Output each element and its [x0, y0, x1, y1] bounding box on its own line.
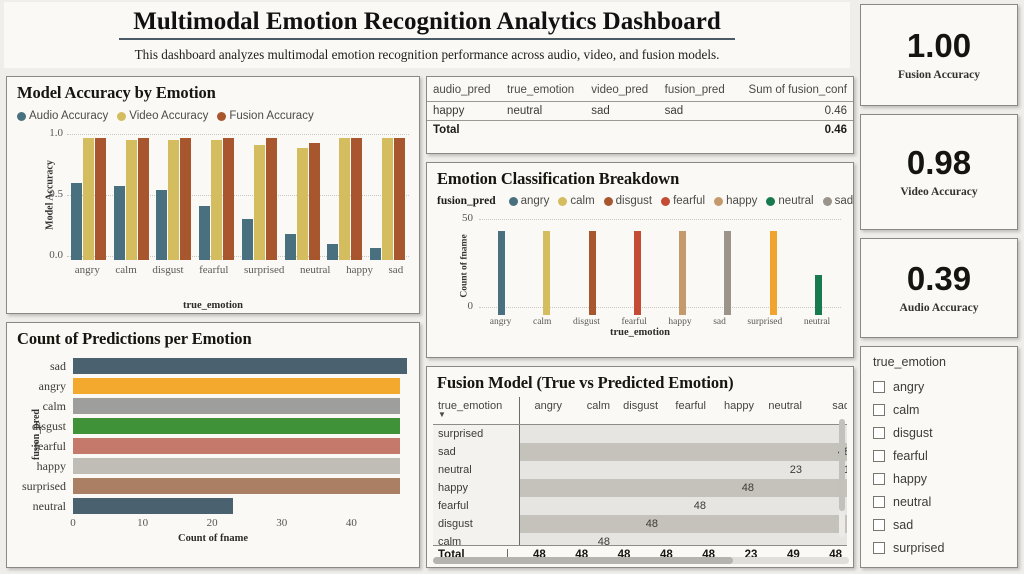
kpi-card-video-accuracy: 0.98 Video Accuracy: [860, 114, 1018, 230]
matrix-cell: [567, 497, 615, 515]
legend-label: sad: [835, 195, 854, 207]
table-row: neutral231: [433, 461, 847, 479]
filter-option-neutral[interactable]: neutral: [873, 490, 1017, 513]
legend-swatch-icon: [604, 197, 613, 206]
filter-options-list: angrycalmdisgustfearfulhappyneutralsadsu…: [873, 375, 1017, 559]
row-label: fearful: [433, 497, 519, 515]
bar-track: [73, 398, 407, 414]
model-accuracy-plot: Model Accuracy 0.00.51.0: [7, 130, 419, 260]
table-row: fearful48: [433, 497, 847, 515]
bar-row: sad: [7, 357, 419, 375]
table-cell: happy: [427, 102, 501, 121]
bar-neutral[interactable]: [815, 275, 822, 315]
x-tick-label: 0: [70, 517, 76, 529]
legend-label: happy: [726, 195, 757, 207]
x-tick-label: 30: [276, 517, 287, 529]
bar-surprised[interactable]: [770, 231, 777, 315]
row-label: happy: [433, 479, 519, 497]
legend-label: Audio Accuracy: [29, 110, 108, 122]
fusion-matrix-horizontal-scrollbar[interactable]: [433, 557, 849, 564]
matrix-cell: [663, 533, 711, 545]
bar-group: [370, 134, 405, 260]
bar-sad[interactable]: [73, 358, 407, 374]
checkbox-icon[interactable]: [873, 473, 885, 485]
x-tick-wrap: fearful: [199, 260, 228, 300]
table-row: happyneutralsadsad0.46: [427, 102, 853, 121]
page-subtitle: This dashboard analyzes multimodal emoti…: [135, 47, 720, 63]
prediction-counts-x-ticks: 010203040: [73, 517, 407, 533]
matrix-cell: [567, 461, 615, 479]
total-spacer: [585, 121, 658, 140]
x-tick-label: fearful: [199, 264, 228, 276]
matrix-cell: [615, 443, 663, 461]
filter-option-label: neutral: [893, 495, 931, 509]
bar-row: angry: [7, 377, 419, 395]
x-tick-label: 10: [137, 517, 148, 529]
kpi-value-audio: 0.39: [907, 262, 971, 295]
bar-audio-accuracy[interactable]: [199, 206, 210, 260]
bar-row-label: happy: [7, 459, 73, 474]
model-accuracy-title: Model Accuracy by Emotion: [7, 77, 419, 105]
bar-group: [156, 134, 191, 260]
row-label: surprised: [433, 425, 519, 444]
table-cell: sad: [585, 102, 658, 121]
bar-video-accuracy[interactable]: [211, 140, 222, 260]
bar-fusion-accuracy[interactable]: [138, 138, 149, 260]
bar-group: [71, 134, 106, 260]
model-accuracy-legend: Audio AccuracyVideo AccuracyFusion Accur…: [7, 105, 419, 122]
x-tick-label: surprised: [244, 264, 284, 276]
fusion-conf-summary-panel: audio_predtrue_emotionvideo_predfusion_p…: [426, 76, 854, 154]
column-header[interactable]: Sum of fusion_conf: [735, 77, 853, 102]
legend-label: Fusion Accuracy: [229, 110, 313, 122]
model-accuracy-panel: Model Accuracy by Emotion Audio Accuracy…: [6, 76, 420, 314]
matrix-cell: [663, 425, 711, 444]
matrix-cell: [519, 425, 567, 444]
bar-disgust[interactable]: [589, 231, 596, 315]
column-header[interactable]: fusion_pred: [659, 77, 736, 102]
legend-label: angry: [521, 195, 550, 207]
x-tick-wrap: surprised: [244, 260, 284, 300]
x-tick-label: calm: [115, 264, 136, 276]
filter-option-label: happy: [893, 472, 927, 486]
true-emotion-filter-panel: true_emotion angrycalmdisgustfearfulhapp…: [860, 346, 1018, 568]
emotion-breakdown-x-tick-labels: angrycalmdisgustfearfulhappysadsurprised…: [479, 317, 841, 327]
filter-option-label: disgust: [893, 426, 933, 440]
filter-option-calm[interactable]: calm: [873, 398, 1017, 421]
x-tick-label: 40: [346, 517, 357, 529]
bar-fusion-accuracy[interactable]: [223, 138, 234, 260]
table-total-row: Total0.46: [427, 121, 853, 140]
matrix-cell: [759, 515, 807, 533]
x-tick-wrap: sad: [389, 260, 404, 300]
matrix-cell: [663, 461, 711, 479]
x-tick-label: 20: [207, 517, 218, 529]
emotion-breakdown-plot: Count of fname 050: [427, 217, 853, 315]
bar-fusion-accuracy[interactable]: [351, 138, 362, 260]
matrix-cell: [711, 461, 759, 479]
x-tick-label: surprised: [747, 317, 782, 327]
x-tick-label: happy: [668, 317, 691, 327]
legend-swatch-icon: [823, 197, 832, 206]
matrix-cell: [759, 497, 807, 515]
total-spacer: [501, 121, 585, 140]
x-tick-wrap: angry: [75, 260, 100, 300]
prediction-counts-panel: Count of Predictions per Emotion fusion_…: [6, 322, 420, 568]
bar-row-label: angry: [7, 379, 73, 394]
total-spacer: [659, 121, 736, 140]
bar-video-accuracy[interactable]: [297, 148, 308, 260]
bar-angry[interactable]: [73, 378, 400, 394]
matrix-cell: [663, 479, 711, 497]
dashboard-root: Multimodal Emotion Recognition Analytics…: [0, 0, 1024, 574]
dashboard-header: Multimodal Emotion Recognition Analytics…: [4, 2, 850, 68]
bar-video-accuracy[interactable]: [168, 140, 179, 260]
y-tick-label: 0.5: [33, 188, 63, 200]
legend-item-angry: angry: [509, 195, 550, 207]
filter-option-label: fearful: [893, 449, 928, 463]
bar-video-accuracy[interactable]: [382, 138, 393, 260]
fusion-matrix-title: Fusion Model (True vs Predicted Emotion): [427, 367, 853, 395]
filter-option-label: surprised: [893, 541, 944, 555]
bar-fusion-accuracy[interactable]: [309, 143, 320, 260]
bar-row-label: surprised: [7, 479, 73, 494]
column-header[interactable]: video_pred: [585, 77, 658, 102]
checkbox-icon[interactable]: [873, 381, 885, 393]
legend-item-audio-accuracy: Audio Accuracy: [17, 110, 108, 122]
filter-option-surprised[interactable]: surprised: [873, 536, 1017, 559]
table-row: disgust48: [433, 515, 847, 533]
x-tick-label: neutral: [804, 317, 830, 327]
matrix-cell: [519, 461, 567, 479]
filter-option-disgust[interactable]: disgust: [873, 421, 1017, 444]
bar-track: [73, 478, 407, 494]
y-tick-label: 0: [443, 300, 473, 312]
fusion-matrix-scroll-area[interactable]: true_emotion▼angrycalmdisgustfearfulhapp…: [433, 397, 847, 545]
fusion-matrix-panel: Fusion Model (True vs Predicted Emotion)…: [426, 366, 854, 568]
bar-track: [73, 418, 407, 434]
column-header-angry[interactable]: angry: [519, 397, 567, 425]
bar-neutral[interactable]: [73, 498, 233, 514]
matrix-cell: [567, 443, 615, 461]
y-tick-label: 0.0: [33, 249, 63, 261]
matrix-cell: [519, 497, 567, 515]
x-tick-wrap: happy: [346, 260, 373, 300]
column-header-happy[interactable]: happy: [711, 397, 759, 425]
total-label: Total: [427, 121, 501, 140]
matrix-cell: [711, 425, 759, 444]
filter-title: true_emotion: [873, 355, 1017, 369]
table-row: happy48: [433, 479, 847, 497]
total-value: 0.46: [735, 121, 853, 140]
bar-row: calm: [7, 397, 419, 415]
x-tick-label: sad: [389, 264, 404, 276]
bar-row: surprised: [7, 477, 419, 495]
x-tick-wrap: disgust: [152, 260, 183, 300]
table-row: calm48: [433, 533, 847, 545]
column-header-fearful[interactable]: fearful: [663, 397, 711, 425]
column-header[interactable]: audio_pred: [427, 77, 501, 102]
table-row: surprised48: [433, 425, 847, 444]
matrix-cell: 48: [567, 533, 615, 545]
legend-swatch-icon: [714, 197, 723, 206]
x-tick-label: happy: [346, 264, 373, 276]
emotion-breakdown-legend-title: fusion_pred: [437, 195, 496, 207]
bar-track: [73, 358, 407, 374]
matrix-cell: 48: [615, 515, 663, 533]
matrix-cell: [711, 443, 759, 461]
bar-audio-accuracy[interactable]: [370, 248, 381, 260]
bar-calm[interactable]: [73, 398, 400, 414]
matrix-cell: [567, 479, 615, 497]
matrix-cell: [711, 497, 759, 515]
legend-label: fearful: [673, 195, 705, 207]
bar-happy[interactable]: [73, 458, 400, 474]
bar-audio-accuracy[interactable]: [285, 234, 296, 260]
checkbox-icon[interactable]: [873, 519, 885, 531]
bar-fearful[interactable]: [634, 231, 641, 315]
legend-label: disgust: [616, 195, 652, 207]
bar-group: [285, 134, 320, 260]
legend-swatch-icon: [558, 197, 567, 206]
bar-audio-accuracy[interactable]: [114, 186, 125, 260]
matrix-cell: 48: [711, 479, 759, 497]
column-header-neutral[interactable]: neutral: [759, 397, 807, 425]
bar-row-label: sad: [7, 359, 73, 374]
kpi-label-fusion: Fusion Accuracy: [898, 69, 980, 81]
x-tick-label: disgust: [573, 317, 600, 327]
legend-swatch-icon: [661, 197, 670, 206]
prediction-counts-x-axis-label: Count of fname: [7, 533, 419, 544]
table-body: happyneutralsadsad0.46Total0.46: [427, 102, 853, 140]
emotion-breakdown-bars: [479, 217, 841, 315]
prediction-counts-bars: sadangrycalmdisgustfearfulhappysurprised…: [7, 357, 419, 515]
matrix-cell: 23: [759, 461, 807, 479]
matrix-cell: [615, 497, 663, 515]
legend-item-sad: sad: [823, 195, 854, 207]
bar-audio-accuracy[interactable]: [156, 190, 167, 260]
page-title: Multimodal Emotion Recognition Analytics…: [119, 8, 735, 40]
filter-option-label: calm: [893, 403, 919, 417]
fusion-conf-summary-table: audio_predtrue_emotionvideo_predfusion_p…: [427, 77, 853, 139]
bar-row: disgust: [7, 417, 419, 435]
fusion-matrix-body: surprised48sad48neutral231happy48fearful…: [433, 425, 847, 546]
checkbox-icon[interactable]: [873, 404, 885, 416]
legend-item-fearful: fearful: [661, 195, 705, 207]
table-cell: 0.46: [735, 102, 853, 121]
matrix-cell: [567, 515, 615, 533]
row-header-column[interactable]: true_emotion▼: [433, 397, 519, 425]
prediction-counts-title: Count of Predictions per Emotion: [7, 323, 419, 351]
filter-option-fearful[interactable]: fearful: [873, 444, 1017, 467]
bar-group: [199, 134, 234, 260]
emotion-breakdown-title: Emotion Classification Breakdown: [427, 163, 853, 191]
y-tick-label: 1.0: [33, 127, 63, 139]
filter-option-angry[interactable]: angry: [873, 375, 1017, 398]
bar-row: happy: [7, 457, 419, 475]
column-header[interactable]: true_emotion: [501, 77, 585, 102]
bar-sad[interactable]: [724, 231, 731, 315]
matrix-cell: 48: [663, 497, 711, 515]
bar-disgust[interactable]: [73, 418, 400, 434]
legend-item-calm: calm: [558, 195, 594, 207]
emotion-breakdown-y-axis-label: Count of fname: [460, 234, 470, 297]
x-tick-label: calm: [533, 317, 551, 327]
matrix-cell: [663, 443, 711, 461]
legend-item-disgust: disgust: [604, 195, 652, 207]
matrix-cell: [519, 479, 567, 497]
bar-angry[interactable]: [498, 231, 505, 315]
legend-label: Video Accuracy: [129, 110, 208, 122]
checkbox-icon[interactable]: [873, 542, 885, 554]
bar-group: [327, 134, 362, 260]
checkbox-icon[interactable]: [873, 496, 885, 508]
kpi-label-video: Video Accuracy: [900, 186, 977, 198]
x-tick-label: angry: [75, 264, 100, 276]
row-label: sad: [433, 443, 519, 461]
legend-swatch-icon: [766, 197, 775, 206]
bar-group: [242, 134, 277, 260]
kpi-card-audio-accuracy: 0.39 Audio Accuracy: [860, 238, 1018, 338]
bar-audio-accuracy[interactable]: [327, 244, 338, 260]
emotion-breakdown-x-axis-label: true_emotion: [427, 327, 853, 338]
matrix-cell: [759, 479, 807, 497]
prediction-counts-y-axis-label: fusion_pred: [31, 409, 42, 460]
filter-option-label: sad: [893, 518, 913, 532]
matrix-cell: [759, 533, 807, 545]
legend-label: calm: [570, 195, 594, 207]
matrix-cell: [615, 425, 663, 444]
bar-group: [114, 134, 149, 260]
kpi-value-fusion: 1.00: [907, 29, 971, 62]
matrix-cell: [567, 425, 615, 444]
bar-video-accuracy[interactable]: [339, 138, 350, 260]
bar-video-accuracy[interactable]: [126, 140, 137, 260]
bar-track: [73, 458, 407, 474]
legend-swatch-icon: [509, 197, 518, 206]
fusion-matrix-table: true_emotion▼angrycalmdisgustfearfulhapp…: [433, 397, 847, 545]
fusion-matrix-header: true_emotion▼angrycalmdisgustfearfulhapp…: [433, 397, 847, 425]
matrix-cell: [519, 515, 567, 533]
bar-happy[interactable]: [679, 231, 686, 315]
kpi-value-video: 0.98: [907, 146, 971, 179]
emotion-breakdown-panel: Emotion Classification Breakdown fusion_…: [426, 162, 854, 358]
table-header: audio_predtrue_emotionvideo_predfusion_p…: [427, 77, 853, 102]
legend-swatch-icon: [217, 112, 226, 121]
table-header-row: audio_predtrue_emotionvideo_predfusion_p…: [427, 77, 853, 102]
bar-track: [73, 498, 407, 514]
matrix-cell: [759, 443, 807, 461]
bar-fusion-accuracy[interactable]: [180, 138, 191, 260]
emotion-breakdown-legend: fusion_pred angrycalmdisgustfearfulhappy…: [427, 191, 853, 207]
x-tick-label: fearful: [622, 317, 647, 327]
legend-item-neutral: neutral: [766, 195, 813, 207]
checkbox-icon[interactable]: [873, 450, 885, 462]
x-tick-wrap: calm: [115, 260, 136, 300]
matrix-cell: [711, 533, 759, 545]
sort-caret-icon[interactable]: ▼: [438, 412, 514, 418]
filter-option-label: angry: [893, 380, 924, 394]
bar-track: [73, 438, 407, 454]
bar-calm[interactable]: [543, 231, 550, 315]
legend-item-happy: happy: [714, 195, 757, 207]
legend-swatch-icon: [117, 112, 126, 121]
bar-track: [73, 378, 407, 394]
bar-video-accuracy[interactable]: [254, 145, 265, 260]
bar-fusion-accuracy[interactable]: [394, 138, 405, 260]
model-accuracy-bars: [67, 134, 409, 260]
bar-row: fearful: [7, 437, 419, 455]
checkbox-icon[interactable]: [873, 427, 885, 439]
matrix-cell: [711, 515, 759, 533]
row-label: neutral: [433, 461, 519, 479]
prediction-counts-plot: fusion_pred sadangrycalmdisgustfearfulha…: [7, 357, 419, 544]
matrix-cell: [615, 533, 663, 545]
matrix-cell: [519, 533, 567, 545]
x-tick-label: sad: [713, 317, 726, 327]
bar-video-accuracy[interactable]: [83, 138, 94, 260]
x-tick-label: angry: [490, 317, 512, 327]
bar-audio-accuracy[interactable]: [71, 183, 82, 260]
row-label: disgust: [433, 515, 519, 533]
row-label: calm: [433, 533, 519, 545]
column-header-calm[interactable]: calm: [567, 397, 615, 425]
bar-row-label: neutral: [7, 499, 73, 514]
table-row: sad48: [433, 443, 847, 461]
y-tick-label: 50: [443, 212, 473, 224]
kpi-label-audio: Audio Accuracy: [900, 302, 979, 314]
bar-audio-accuracy[interactable]: [242, 219, 253, 260]
bar-fusion-accuracy[interactable]: [266, 138, 277, 260]
bar-fusion-accuracy[interactable]: [95, 138, 106, 260]
matrix-cell: [615, 461, 663, 479]
model-accuracy-x-axis-label: true_emotion: [7, 300, 419, 311]
bar-row: neutral: [7, 497, 419, 515]
column-header-disgust[interactable]: disgust: [615, 397, 663, 425]
matrix-cell: [759, 425, 807, 444]
bar-surprised[interactable]: [73, 478, 400, 494]
filter-option-happy[interactable]: happy: [873, 467, 1017, 490]
legend-item-fusion-accuracy: Fusion Accuracy: [217, 110, 313, 122]
kpi-card-fusion-accuracy: 1.00 Fusion Accuracy: [860, 4, 1018, 106]
x-tick-label: neutral: [300, 264, 331, 276]
matrix-cell: [663, 515, 711, 533]
legend-swatch-icon: [17, 112, 26, 121]
x-tick-wrap: neutral: [300, 260, 331, 300]
x-tick-label: disgust: [152, 264, 183, 276]
legend-item-video-accuracy: Video Accuracy: [117, 110, 208, 122]
fusion-matrix-vertical-scrollbar[interactable]: [839, 419, 845, 537]
table-cell: sad: [659, 102, 736, 121]
bar-fearful[interactable]: [73, 438, 400, 454]
filter-option-sad[interactable]: sad: [873, 513, 1017, 536]
matrix-cell: [615, 479, 663, 497]
model-accuracy-x-tick-labels: angrycalmdisgustfearfulsurprisedneutralh…: [67, 260, 411, 300]
matrix-cell: [519, 443, 567, 461]
table-cell: neutral: [501, 102, 585, 121]
fusion-matrix-header-row: true_emotion▼angrycalmdisgustfearfulhapp…: [433, 397, 847, 425]
legend-label: neutral: [778, 195, 813, 207]
